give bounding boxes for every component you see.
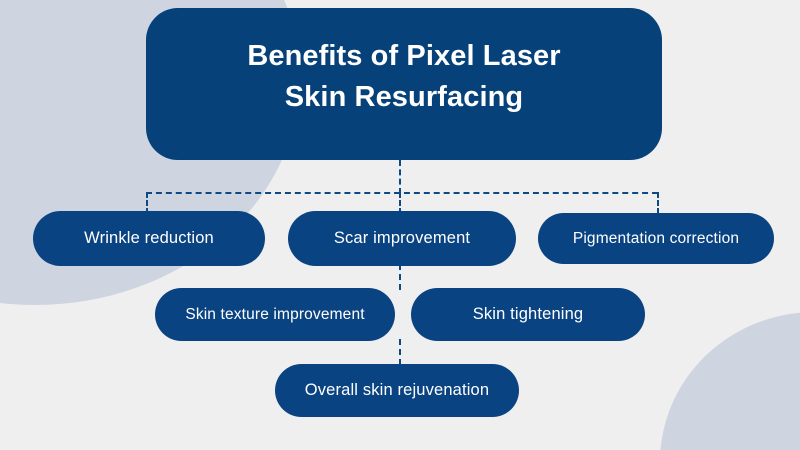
connector-line-row2-to-row3 (399, 339, 401, 365)
title-card: Benefits of Pixel Laser Skin Resurfacing (146, 8, 662, 160)
connector-line-row1-to-row2 (399, 264, 401, 290)
decorative-circle-bottom-right (660, 312, 800, 450)
benefit-pill-label: Overall skin rejuvenation (305, 382, 489, 399)
connector-line-horizontal-bus (146, 192, 658, 194)
benefit-pill-label: Scar improvement (334, 230, 470, 247)
benefit-pill-label: Wrinkle reduction (84, 230, 214, 247)
benefit-pill-scar-improvement[interactable]: Scar improvement (288, 211, 516, 266)
connector-line-drop-right (657, 192, 659, 214)
benefit-pill-label: Skin tightening (473, 306, 584, 323)
benefit-pill-skin-texture-improvement[interactable]: Skin texture improvement (155, 288, 395, 341)
benefit-pill-overall-skin-rejuvenation[interactable]: Overall skin rejuvenation (275, 364, 519, 417)
benefit-pill-wrinkle-reduction[interactable]: Wrinkle reduction (33, 211, 265, 266)
page-title-line-1: Benefits of Pixel Laser (247, 36, 560, 77)
benefit-pill-label: Skin texture improvement (185, 307, 364, 323)
benefit-pill-skin-tightening[interactable]: Skin tightening (411, 288, 645, 341)
benefit-pill-label: Pigmentation correction (573, 231, 739, 247)
connector-line-title-to-bus (399, 160, 401, 194)
page-title: Benefits of Pixel Laser Skin Resurfacing (247, 36, 560, 118)
page-title-line-2: Skin Resurfacing (247, 77, 560, 118)
benefit-pill-pigmentation-correction[interactable]: Pigmentation correction (538, 213, 774, 264)
infographic-canvas: Benefits of Pixel Laser Skin Resurfacing… (0, 0, 800, 450)
